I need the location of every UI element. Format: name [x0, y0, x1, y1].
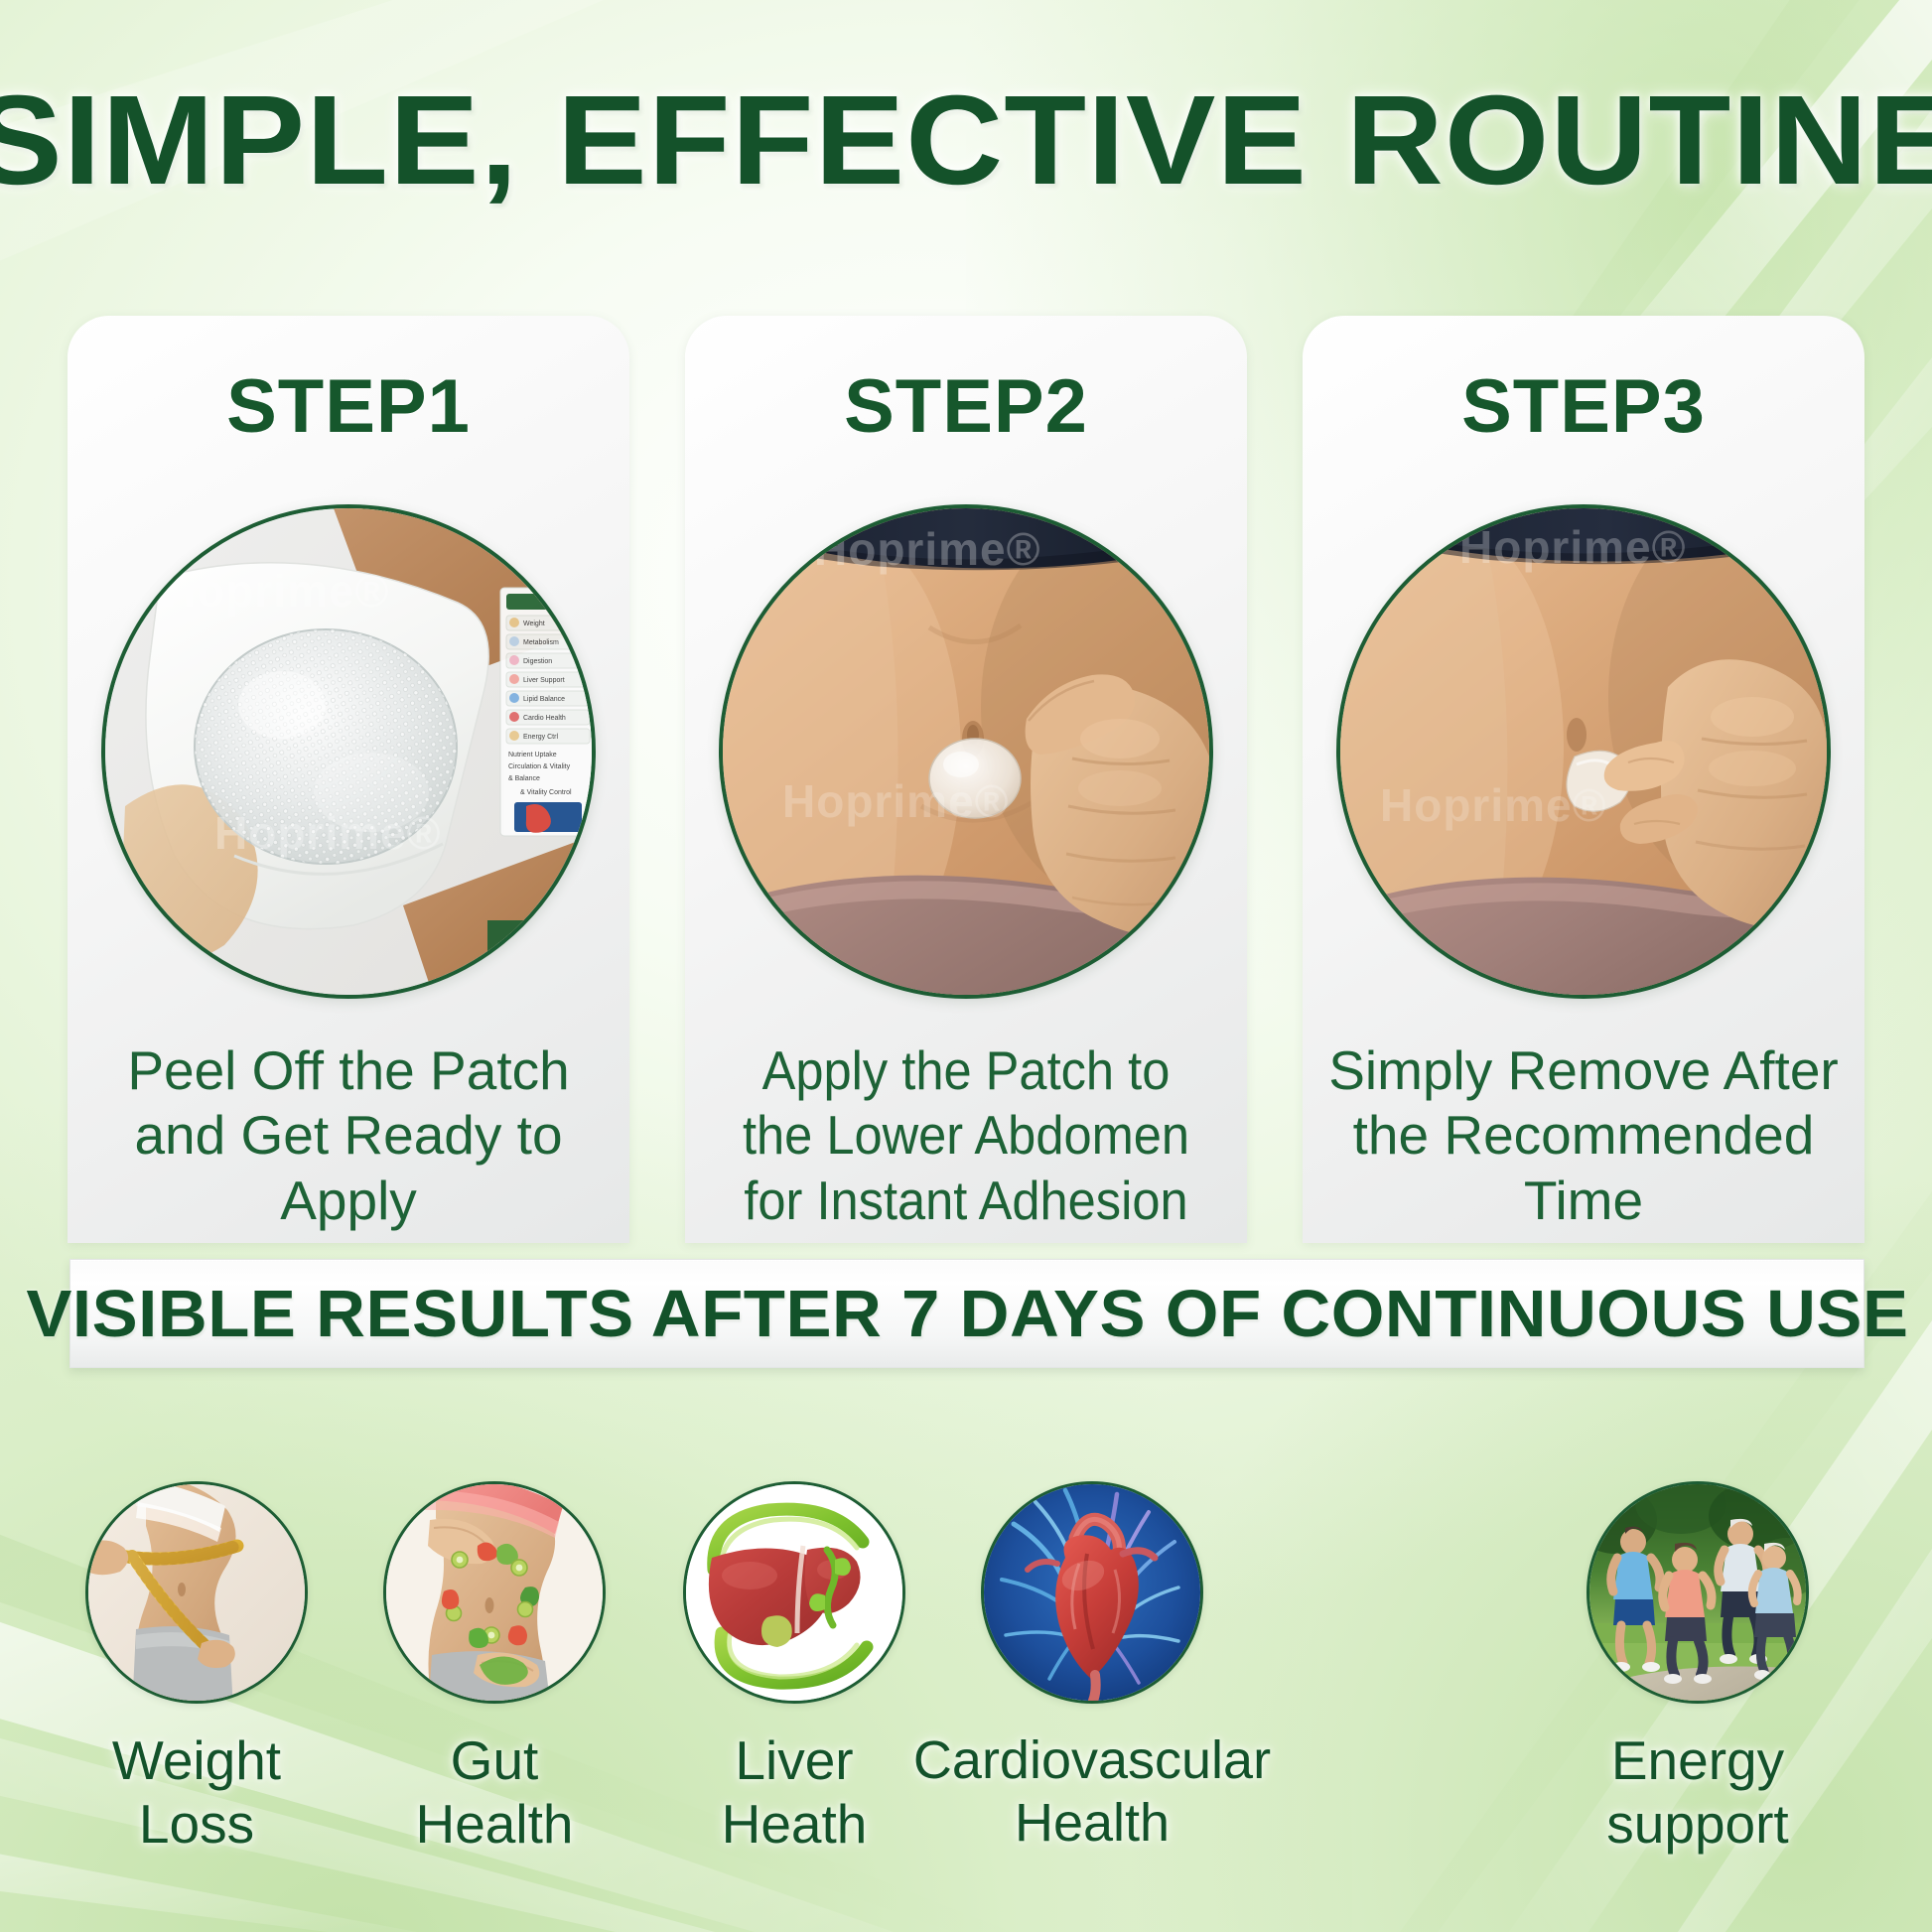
benefits-section: Weight Loss — [0, 1481, 1932, 1898]
svg-text:Weight: Weight — [523, 621, 545, 627]
step-label-1: STEP1 — [68, 363, 629, 450]
step-caption-1: Peel Off the Patch and Get Ready to Appl… — [89, 1038, 608, 1233]
svg-text:Circulation & Vitality: Circulation & Vitality — [508, 763, 571, 770]
svg-text:Energy Ctrl: Energy Ctrl — [523, 734, 558, 741]
svg-text:Lipid Balance: Lipid Balance — [523, 696, 565, 703]
gut-vegetables-icon — [383, 1481, 606, 1704]
svg-text:& Vitality Control: & Vitality Control — [520, 789, 572, 796]
benefit-cardiovascular-health[interactable]: Cardiovascular Health — [943, 1481, 1241, 1854]
step-card-2[interactable]: STEP2 — [685, 316, 1247, 1243]
svg-text:Cardio Health: Cardio Health — [523, 715, 566, 722]
patch-remove-photo — [1340, 508, 1827, 995]
benefit-weight-loss[interactable]: Weight Loss — [48, 1481, 345, 1857]
svg-text:Digestion: Digestion — [523, 658, 552, 665]
benefit-gut-health[interactable]: Gut Health — [345, 1481, 643, 1857]
liver-icon — [683, 1481, 905, 1704]
running-people-icon — [1587, 1481, 1809, 1704]
step-image-3: Hoprime® Hoprime® — [1336, 504, 1831, 999]
results-banner: VISIBLE RESULTS AFTER 7 DAYS OF CONTINUO… — [69, 1259, 1864, 1368]
svg-text:& Balance: & Balance — [508, 775, 540, 782]
patch-peel-photo: Weight Metabolism Digestion Liver Suppor… — [105, 508, 592, 995]
benefit-label: Energy support — [1519, 1729, 1876, 1857]
benefit-label: Cardiovascular Health — [884, 1729, 1301, 1854]
step-card-1[interactable]: STEP1 — [68, 316, 629, 1243]
step-label-2: STEP2 — [685, 363, 1247, 450]
step-image-2: Hoprime® Hoprime® — [719, 504, 1213, 999]
step-card-3[interactable]: STEP3 — [1303, 316, 1864, 1243]
step-caption-3: Simply Remove After the Recommended Time — [1324, 1038, 1843, 1233]
patch-apply-abdomen-photo — [723, 508, 1209, 995]
svg-text:Metabolism: Metabolism — [523, 639, 559, 646]
heart-icon — [981, 1481, 1203, 1704]
svg-text:Nutrient Uptake: Nutrient Uptake — [508, 752, 557, 759]
step-caption-2: Apply the Patch to the Lower Abdomen for… — [728, 1038, 1204, 1233]
svg-text:Liver Support: Liver Support — [523, 677, 565, 684]
results-banner-text: VISIBLE RESULTS AFTER 7 DAYS OF CONTINUO… — [26, 1276, 1908, 1352]
step-label-3: STEP3 — [1303, 363, 1864, 450]
benefit-label: Weight Loss — [48, 1729, 345, 1857]
waist-measure-icon — [85, 1481, 308, 1704]
step-image-1: Weight Metabolism Digestion Liver Suppor… — [101, 504, 596, 999]
benefit-energy-support[interactable]: Energy support — [1549, 1481, 1847, 1857]
benefit-label: Gut Health — [345, 1729, 643, 1857]
